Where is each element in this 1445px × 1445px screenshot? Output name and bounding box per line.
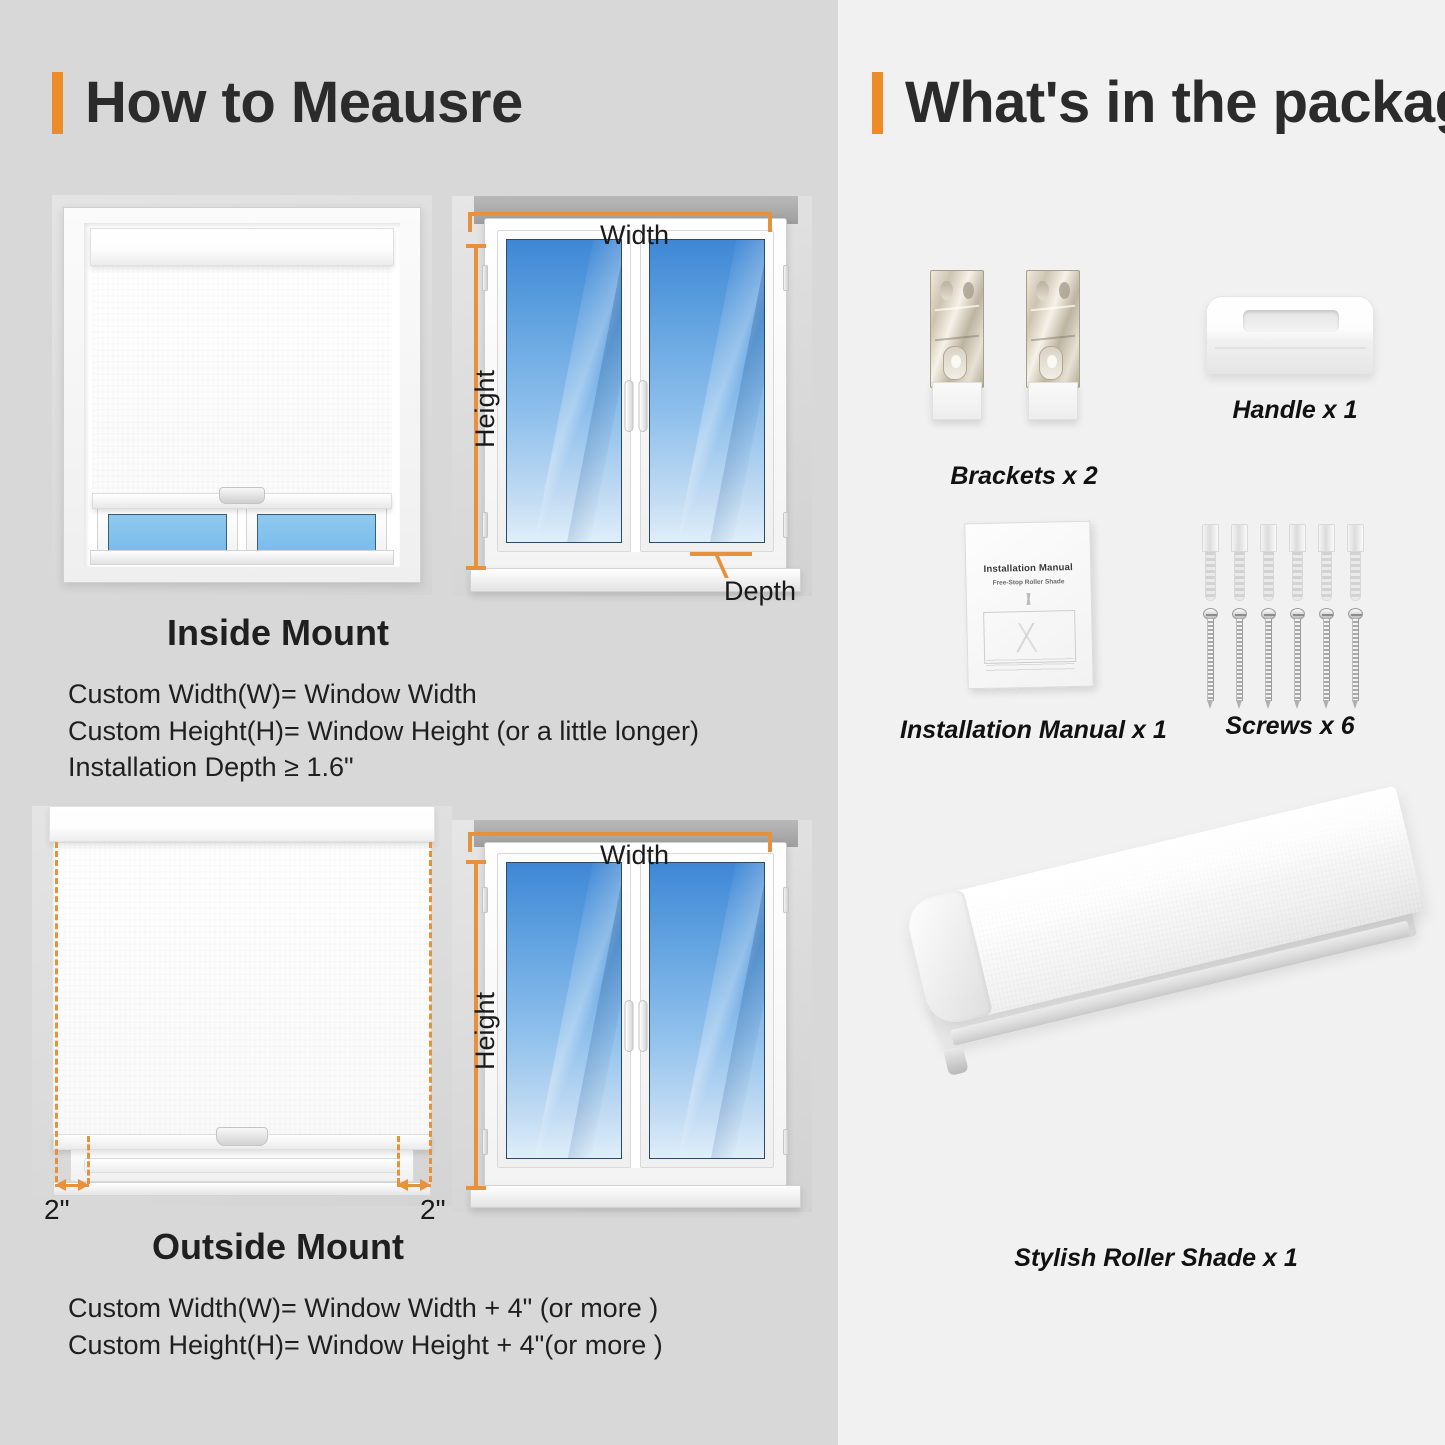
bracket-slot: [943, 346, 967, 380]
glass-pane-left: [506, 239, 621, 543]
roller-shade-product-image: [896, 880, 1416, 1180]
screw-4: [1290, 608, 1305, 708]
manual-cover-title: Installation Manual: [966, 562, 1090, 576]
hinge-bottom-right: [783, 512, 789, 538]
window-sash-left: [497, 230, 630, 552]
window-handles: [624, 380, 647, 432]
outside-mount-shade-figure: 2" 2": [32, 806, 452, 1206]
screw-shaft: [1294, 619, 1301, 701]
screw-3: [1261, 608, 1276, 708]
screw-2: [1232, 608, 1247, 708]
hinge-bottom-right: [783, 1129, 789, 1155]
window-behind-shade: [70, 1146, 414, 1182]
wall-anchor-5: [1318, 524, 1335, 602]
installation-manual-booklet: Installation Manual Free-Stop Roller Sha…: [964, 521, 1093, 690]
window-frame: [484, 842, 786, 1187]
wall-anchor-2: [1231, 524, 1248, 602]
bracket-slot: [1039, 346, 1063, 380]
arrow-head-right-icon: [78, 1179, 89, 1191]
screw-5: [1319, 608, 1334, 708]
outside-mount-specs: Custom Width(W)= Window Width + 4" (or m…: [68, 1290, 768, 1363]
arrow-head-left-icon: [55, 1179, 66, 1191]
screw-tip: [1294, 700, 1300, 709]
anchor-head: [1231, 524, 1248, 552]
width-dim-cap-right: [768, 212, 772, 232]
overhang-arrow-left: [55, 1178, 89, 1194]
inside-mount-spec-width: Custom Width(W)= Window Width: [68, 676, 768, 713]
inside-mount-spec-height: Custom Height(H)= Window Height (or a li…: [68, 713, 768, 750]
width-label: Width: [600, 840, 669, 871]
brackets-label: Brackets x 2: [904, 462, 1144, 491]
anchor-head: [1347, 524, 1364, 552]
hinge-top-right: [783, 887, 789, 913]
width-label: Width: [600, 220, 669, 251]
hinge-bottom-left: [482, 1129, 488, 1155]
bracket-base: [1028, 382, 1078, 420]
window-edge-guide-right: [397, 1136, 400, 1184]
width-dim-cap-right: [768, 832, 772, 852]
anchor-head: [1318, 524, 1335, 552]
width-dim-cap-left: [468, 212, 472, 232]
window-sash-left: [497, 853, 630, 1169]
depth-label: Depth: [724, 576, 796, 607]
shade-headrail: [49, 806, 435, 842]
wall-anchor-6: [1347, 524, 1364, 602]
roller-shade-label: Stylish Roller Shade x 1: [886, 1244, 1426, 1273]
screw-shaft: [1352, 619, 1359, 701]
hinge-top-right: [783, 265, 789, 291]
bracket-base: [932, 382, 982, 420]
shade-pull-handle: [219, 487, 265, 504]
window-sash-right: [640, 853, 773, 1169]
width-dimension-bar: [468, 212, 772, 216]
outside-mount-spec-height: Custom Height(H)= Window Height + 4"(or …: [68, 1327, 768, 1364]
window-sill: [470, 1185, 801, 1209]
height-dim-cap-bottom: [466, 1186, 486, 1190]
manual-label: Installation Manual x 1: [900, 716, 1160, 745]
package-title: What's in the package: [905, 74, 1445, 132]
package-contents-panel: What's in the package Brackets x 2 Handl…: [838, 0, 1445, 1445]
window-handles: [624, 1000, 647, 1052]
bracket-1: [930, 270, 984, 420]
accent-bar-icon: [52, 72, 63, 134]
screw-tip: [1236, 700, 1242, 709]
how-to-measure-panel: How to Meausre: [0, 0, 838, 1445]
height-dim-cap-bottom: [466, 566, 486, 570]
screw-shaft: [1207, 619, 1214, 701]
screw-tip: [1323, 700, 1329, 709]
wall-anchor-3: [1260, 524, 1277, 602]
window-handle-left: [624, 380, 633, 432]
hinge-top-left: [482, 265, 488, 291]
package-item-manual: Installation Manual Free-Stop Roller Sha…: [900, 522, 1160, 752]
overhang-label-left: 2": [44, 1194, 70, 1226]
screw-6: [1348, 608, 1363, 708]
package-item-brackets: Brackets x 2: [924, 270, 1124, 510]
anchor-body: [1321, 551, 1332, 601]
glass-pane-left: [506, 862, 621, 1160]
screw-tip: [1352, 700, 1358, 709]
screw-tip: [1265, 700, 1271, 709]
depth-dimension-marker: [690, 552, 752, 578]
manual-cover-footer-lines: [986, 656, 1074, 674]
screws-label: Screws x 6: [1180, 712, 1400, 741]
wall-anchor-4: [1289, 524, 1306, 602]
glass-pane-right: [257, 514, 376, 552]
outside-mount-title: Outside Mount: [68, 1226, 488, 1268]
height-dim-cap-top: [466, 860, 486, 864]
inside-mount-title: Inside Mount: [68, 612, 488, 654]
window-sash-right: [640, 230, 773, 552]
glass-pane-right: [649, 239, 764, 543]
inside-mount-window-diagram: Width Height Depth: [452, 196, 812, 596]
inside-mount-specs: Custom Width(W)= Window Width Custom Hei…: [68, 676, 768, 786]
shade-pull-handle: [216, 1127, 268, 1146]
outside-mount-spec-width: Custom Width(W)= Window Width + 4" (or m…: [68, 1290, 768, 1327]
overhang-label-right: 2": [420, 1194, 446, 1226]
glass-pane-right: [649, 862, 764, 1160]
height-dim-cap-top: [466, 244, 486, 248]
handle-label: Handle x 1: [1180, 396, 1410, 425]
anchor-body: [1350, 551, 1361, 601]
window-handle-right: [638, 380, 647, 432]
shade-end-clip: [943, 1046, 969, 1076]
how-to-measure-heading: How to Meausre: [52, 72, 523, 134]
window-sill: [53, 1182, 431, 1196]
accent-bar-icon: [872, 72, 883, 134]
glass-pane-left: [108, 514, 227, 552]
window-frame: [484, 218, 786, 570]
manual-cover-marks: [997, 592, 1063, 605]
width-dim-cap-left: [468, 832, 472, 852]
shade-valance: [90, 228, 393, 266]
inside-mount-shade-figure: [52, 195, 432, 595]
inside-mount-spec-depth: Installation Depth ≥ 1.6": [68, 749, 768, 786]
shade-fabric: [53, 842, 431, 1138]
anchor-body: [1234, 551, 1245, 601]
package-heading: What's in the package: [872, 72, 1445, 134]
overhang-arrow-right: [397, 1178, 431, 1194]
hinge-top-left: [482, 887, 488, 913]
package-item-roller-shade: Stylish Roller Shade x 1: [886, 880, 1426, 1300]
screw-tip: [1207, 700, 1213, 709]
window-recess: [84, 223, 400, 567]
anchor-body: [1292, 551, 1303, 601]
wall-anchor-1: [1202, 524, 1219, 602]
screw-shaft: [1323, 619, 1330, 701]
window-edge-guide-left: [87, 1136, 90, 1184]
window-sill: [90, 550, 393, 565]
screw-1: [1203, 608, 1218, 708]
anchor-head: [1289, 524, 1306, 552]
inside-mount-text-block: Inside Mount Custom Width(W)= Window Wid…: [68, 612, 768, 786]
anchor-head: [1202, 524, 1219, 552]
bracket-2: [1026, 270, 1080, 420]
width-dimension-bar: [468, 832, 772, 836]
anchor-body: [1263, 551, 1274, 601]
arrow-head-left-icon: [397, 1179, 408, 1191]
overhang-guide-left: [55, 842, 58, 1182]
window-frame: [63, 207, 420, 583]
screw-shaft: [1265, 619, 1272, 701]
package-item-screws: Screws x 6: [1198, 524, 1418, 754]
height-label: Height: [470, 992, 501, 1070]
outside-mount-window-diagram: Width Height: [452, 820, 812, 1212]
handle-body: [1206, 296, 1374, 374]
screw-shaft: [1236, 619, 1243, 701]
window-handle-left: [624, 1000, 633, 1052]
outside-mount-text-block: Outside Mount Custom Width(W)= Window Wi…: [68, 1226, 768, 1363]
arrow-head-right-icon: [420, 1179, 431, 1191]
package-item-handle: Handle x 1: [1190, 296, 1420, 456]
height-label: Height: [470, 370, 501, 448]
manual-cover-subtitle: Free-Stop Roller Shade: [966, 578, 1090, 588]
anchor-body: [1205, 551, 1216, 601]
overhang-guide-right: [429, 842, 432, 1182]
infographic-page: How to Meausre: [0, 0, 1445, 1445]
hinge-bottom-left: [482, 512, 488, 538]
anchor-head: [1260, 524, 1277, 552]
shade-fabric: [92, 264, 392, 495]
page-title: How to Meausre: [85, 74, 523, 132]
window-handle-right: [638, 1000, 647, 1052]
